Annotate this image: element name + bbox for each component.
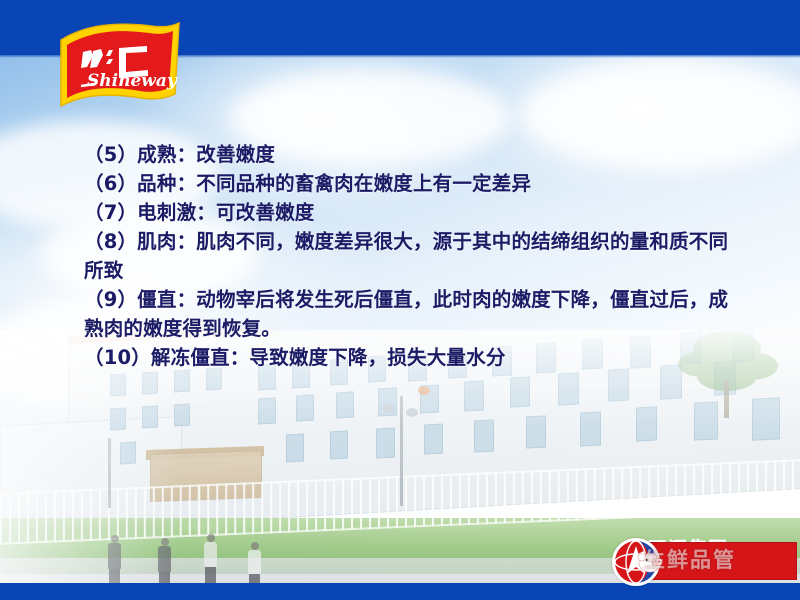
lamp-head	[406, 408, 418, 417]
shineway-flag-logo: Shineway	[47, 20, 187, 110]
person-figure	[108, 535, 121, 588]
shineway-wordmark: Shineway	[87, 71, 178, 91]
lamp-post	[400, 396, 403, 506]
bullet-item-6: （6）品种：不同品种的畜禽肉在嫩度上有一定差异	[84, 169, 744, 198]
slide-body: （5）成熟：改善嫩度 （6）品种：不同品种的畜禽肉在嫩度上有一定差异 （7）电刺…	[84, 140, 744, 372]
bullet-item-5: （5）成熟：改善嫩度	[84, 140, 744, 169]
bullet-item-10: （10）解冻僵直：导致嫩度下降，损失大量水分	[84, 343, 744, 372]
lamp-head	[383, 404, 395, 413]
group-logo-overlay-text: 生鲜品管	[644, 548, 794, 572]
lamp-head	[418, 386, 430, 395]
person-figure	[158, 538, 171, 588]
bullet-item-7: （7）电刺激：可改善嫩度	[84, 198, 744, 227]
person-figure	[204, 534, 217, 588]
person-figure	[248, 542, 261, 588]
bullet-item-9: （9）僵直：动物宰后将发生死后僵直，此时肉的嫩度下降，僵直过后，成熟肉的嫩度得到…	[84, 285, 744, 343]
shineway-group-logo: 双汇集团 SHINEWAY GROUP 生鲜品管	[612, 536, 797, 584]
presentation-slide: Shineway （5）成熟：改善嫩度 （6）品种：不同品种的畜禽肉在嫩度上有一…	[0, 0, 800, 600]
lamp-post	[108, 438, 111, 508]
bullet-item-8: （8）肌肉：肌肉不同，嫩度差异很大，源于其中的结缔组织的量和质不同所致	[84, 227, 744, 285]
bottom-blue-band	[0, 583, 800, 600]
